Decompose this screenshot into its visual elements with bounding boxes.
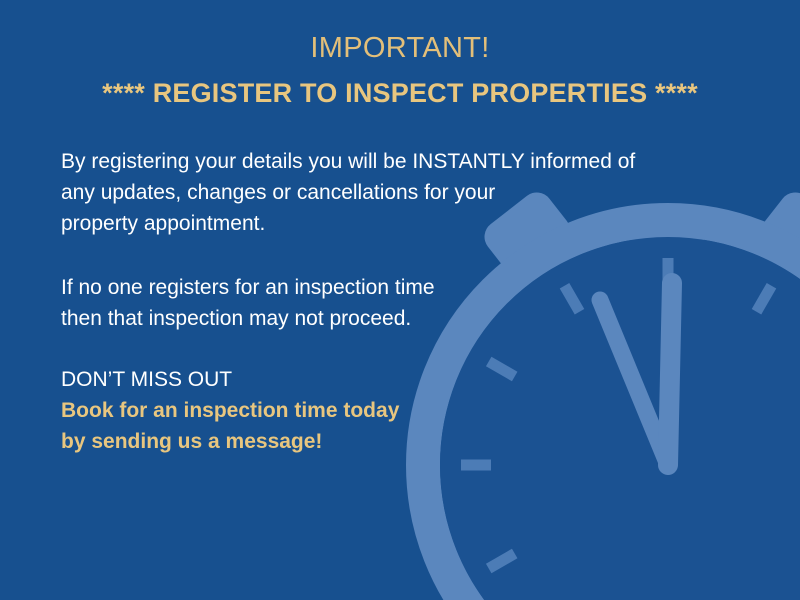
paragraph1-line3: property appointment.: [61, 208, 721, 239]
cta-book-inspection: Book for an inspection time today: [61, 395, 721, 426]
cta-send-message: by sending us a message!: [61, 426, 721, 457]
paragraph-no-registrations: If no one registers for an inspection ti…: [61, 272, 721, 334]
call-to-action-block: DON’T MISS OUT Book for an inspection ti…: [61, 364, 721, 457]
cta-dont-miss-out: DON’T MISS OUT: [61, 364, 721, 395]
heading-register-to-inspect: **** REGISTER TO INSPECT PROPERTIES ****: [0, 73, 800, 113]
paragraph2-line2: then that inspection may not proceed.: [61, 303, 721, 334]
promotional-slide: IMPORTANT! **** REGISTER TO INSPECT PROP…: [0, 0, 800, 600]
slide-content: IMPORTANT! **** REGISTER TO INSPECT PROP…: [0, 0, 800, 600]
slide-heading: IMPORTANT! **** REGISTER TO INSPECT PROP…: [0, 28, 800, 113]
paragraph1-line2: any updates, changes or cancellations fo…: [61, 177, 721, 208]
paragraph-registering-details: By registering your details you will be …: [61, 146, 721, 239]
paragraph1-line1: By registering your details you will be …: [61, 146, 721, 177]
heading-important: IMPORTANT!: [0, 28, 800, 68]
paragraph2-line1: If no one registers for an inspection ti…: [61, 272, 721, 303]
